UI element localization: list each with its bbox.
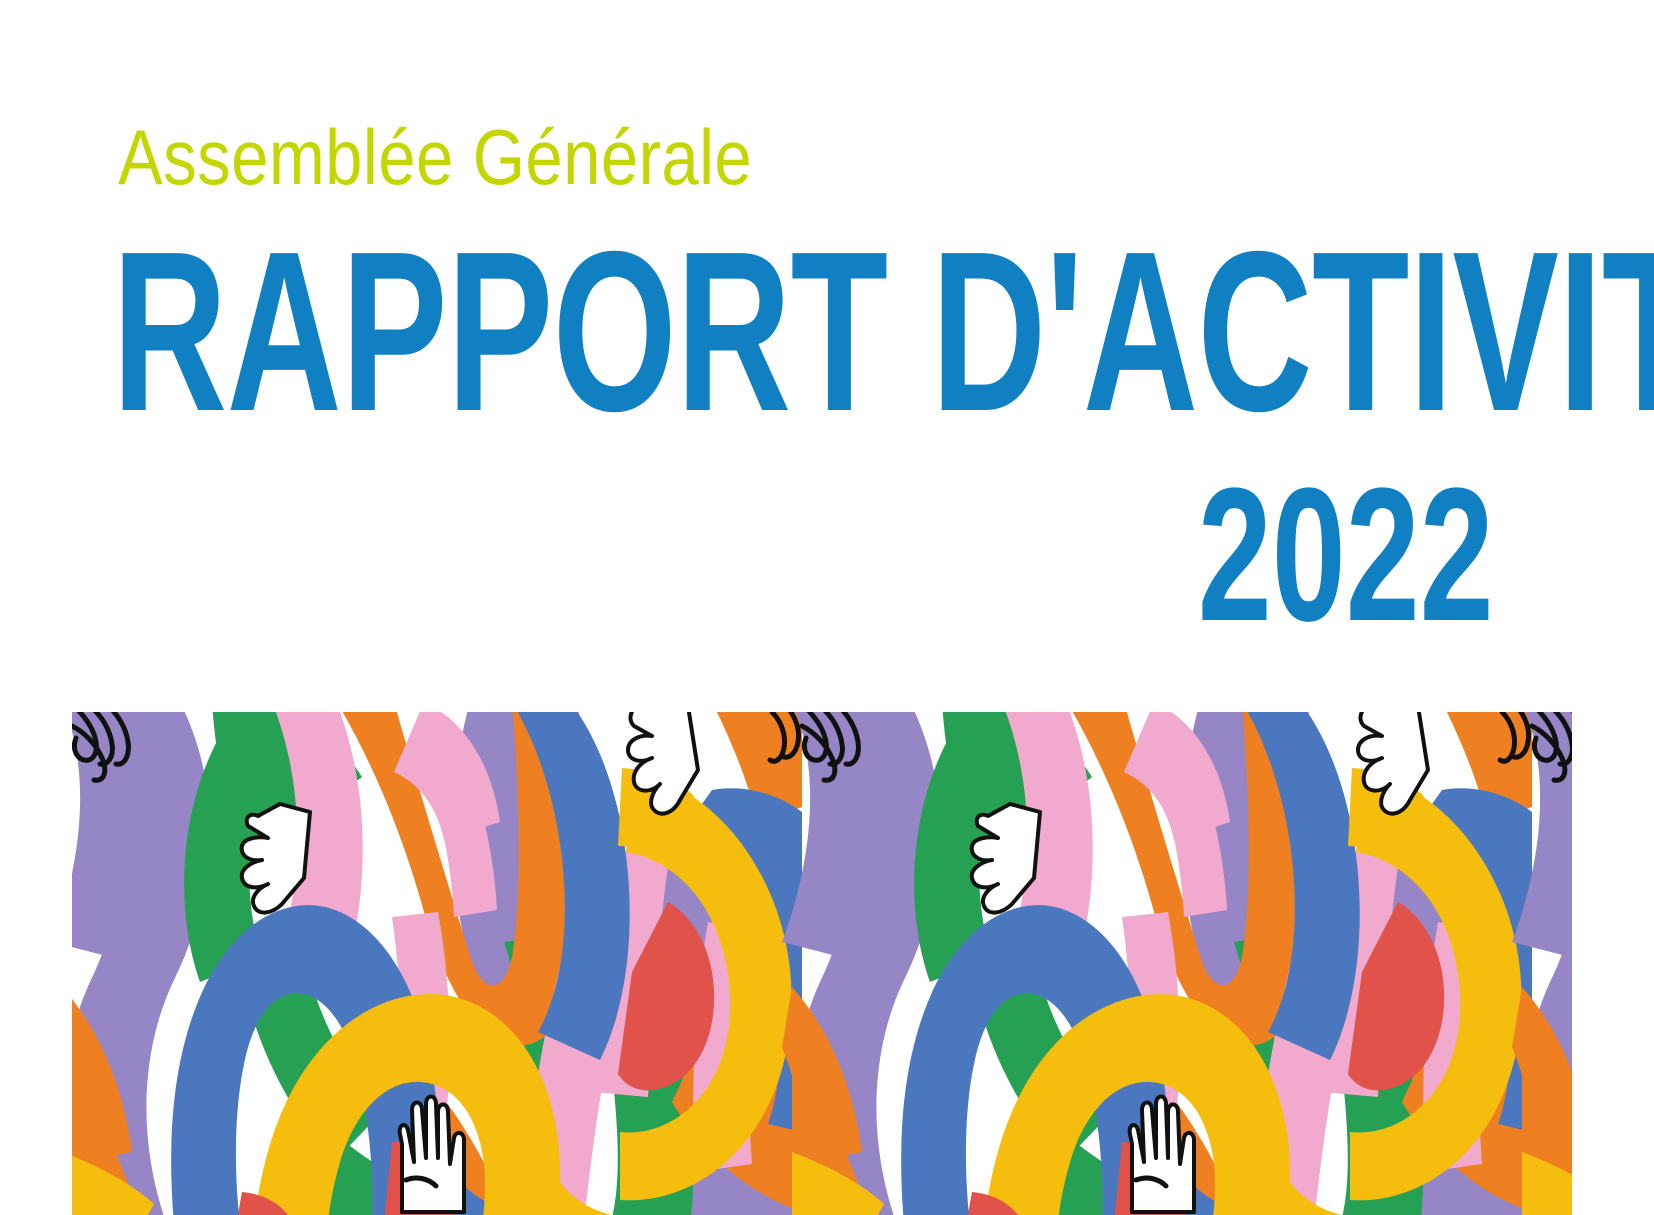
page-title: RAPPORT D'ACTIVITÉ	[112, 228, 1106, 438]
eyebrow-assemblee-generale: Assemblée Générale	[118, 118, 752, 196]
arms-hands-illustration-svg	[72, 712, 1572, 1215]
title-block: Assemblée Générale RAPPORT D'ACTIVITÉ 20…	[0, 0, 1654, 680]
year-label: 2022	[1198, 468, 1494, 643]
cover-illustration	[72, 712, 1572, 1215]
report-cover: Assemblée Générale RAPPORT D'ACTIVITÉ 20…	[0, 0, 1654, 1215]
